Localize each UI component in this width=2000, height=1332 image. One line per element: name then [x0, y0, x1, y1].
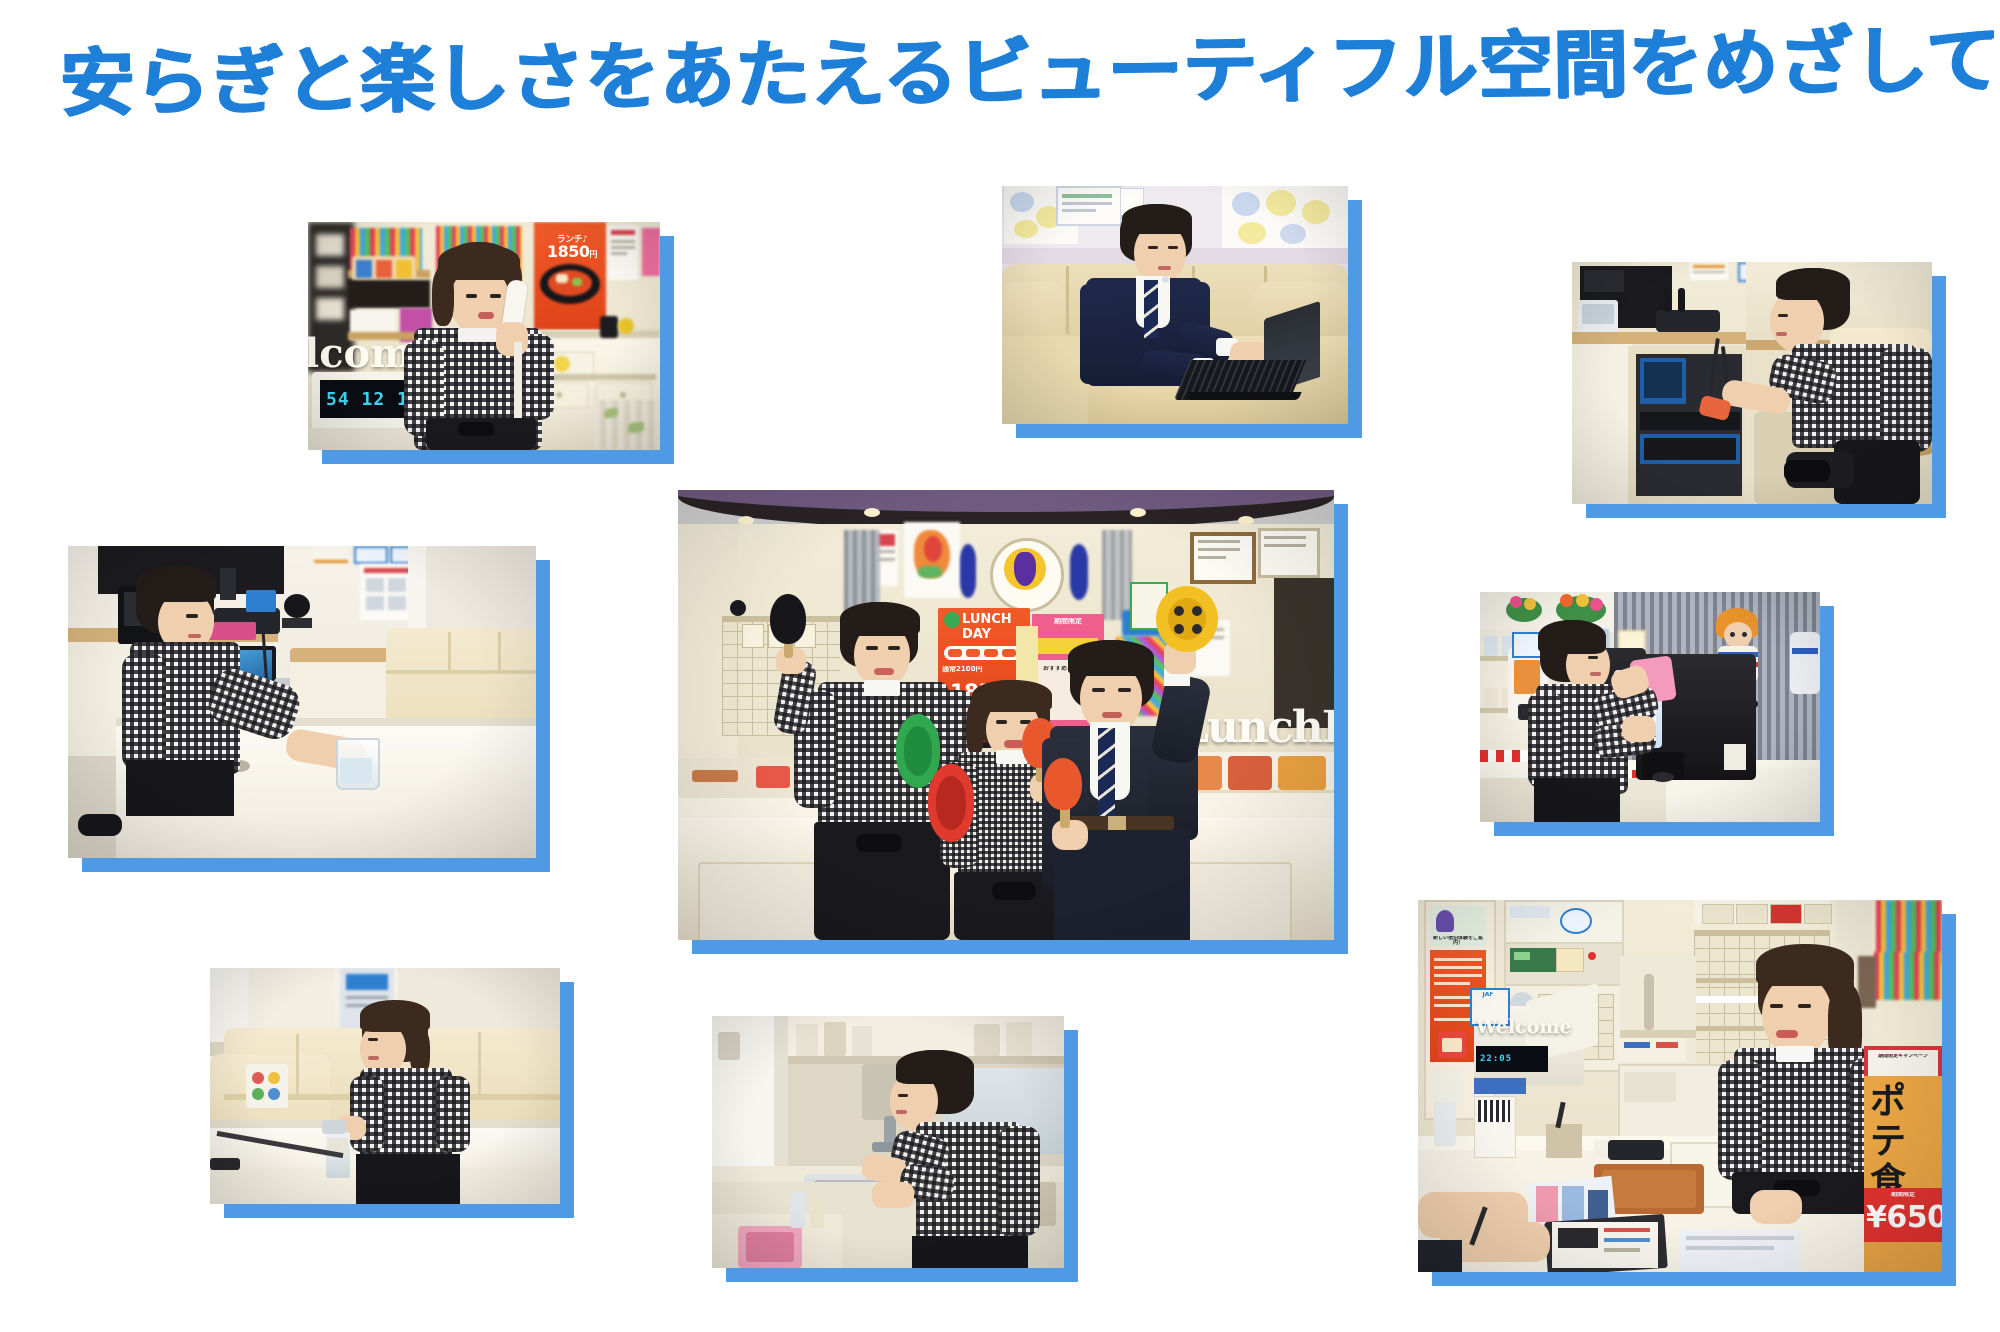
- photo-card-phone-reception: ランチ♪ 1850円: [308, 222, 660, 450]
- photo-card-room-cleaning: [210, 968, 560, 1204]
- photo-scene-equipment-maintenance: [1572, 262, 1932, 504]
- photo-scene-table-service: [68, 546, 536, 858]
- photo-scene-front-desk-checkin: 新しい宿泊体験をご案内！: [1418, 900, 1942, 1272]
- photo-card-table-service: [68, 546, 536, 858]
- photo-frame: [68, 546, 536, 858]
- photo-scene-drink-machine-cleaning: [1480, 592, 1820, 822]
- page-title: 安らぎと楽しさをあたえるビューティフル空間をめざして: [59, 1, 1960, 144]
- photo-card-front-desk-checkin: 新しい宿泊体験をご案内！: [1418, 900, 1942, 1272]
- photo-scene-phone-reception: ランチ♪ 1850円: [308, 222, 660, 450]
- poster-canvas: 安らぎと楽しさをあたえるビューティフル空間をめざして: [0, 0, 2000, 1332]
- photo-frame: [210, 968, 560, 1204]
- photo-scene-kitchen-prep: [712, 1016, 1064, 1268]
- photo-scene-team-maracas: LUNCH DAY 通常2100円 1850円 期間限定 おすすめメニュー: [678, 490, 1334, 940]
- photo-frame: [1002, 186, 1348, 424]
- photo-frame: [712, 1016, 1064, 1268]
- photo-card-kitchen-prep: [712, 1016, 1064, 1268]
- photo-card-drink-machine-cleaning: [1480, 592, 1820, 822]
- photo-frame: [1572, 262, 1932, 504]
- potato-poster-price: ¥650: [1866, 1200, 1940, 1235]
- lunch-day-regular-price: 通常2100円: [942, 666, 1014, 673]
- photo-scene-office-laptop: [1002, 186, 1348, 424]
- jaf-badge: JAF: [1472, 992, 1504, 998]
- photo-frame: LUNCH DAY 通常2100円 1850円 期間限定 おすすめメニュー: [678, 490, 1334, 940]
- photo-card-team-maracas: LUNCH DAY 通常2100円 1850円 期間限定 おすすめメニュー: [678, 490, 1334, 940]
- photo-frame: ランチ♪ 1850円: [308, 222, 660, 450]
- photo-frame: 新しい宿泊体験をご案内！: [1418, 900, 1942, 1272]
- welcome-desk-sign: Welcome: [1476, 1016, 1572, 1038]
- potato-poster-headline: ポテ 食べ: [1870, 1082, 1934, 1166]
- photo-frame: [1480, 592, 1820, 822]
- photo-card-office-laptop: [1002, 186, 1348, 424]
- photo-scene-room-cleaning: [210, 968, 560, 1204]
- photo-card-equipment-maintenance: [1572, 262, 1932, 504]
